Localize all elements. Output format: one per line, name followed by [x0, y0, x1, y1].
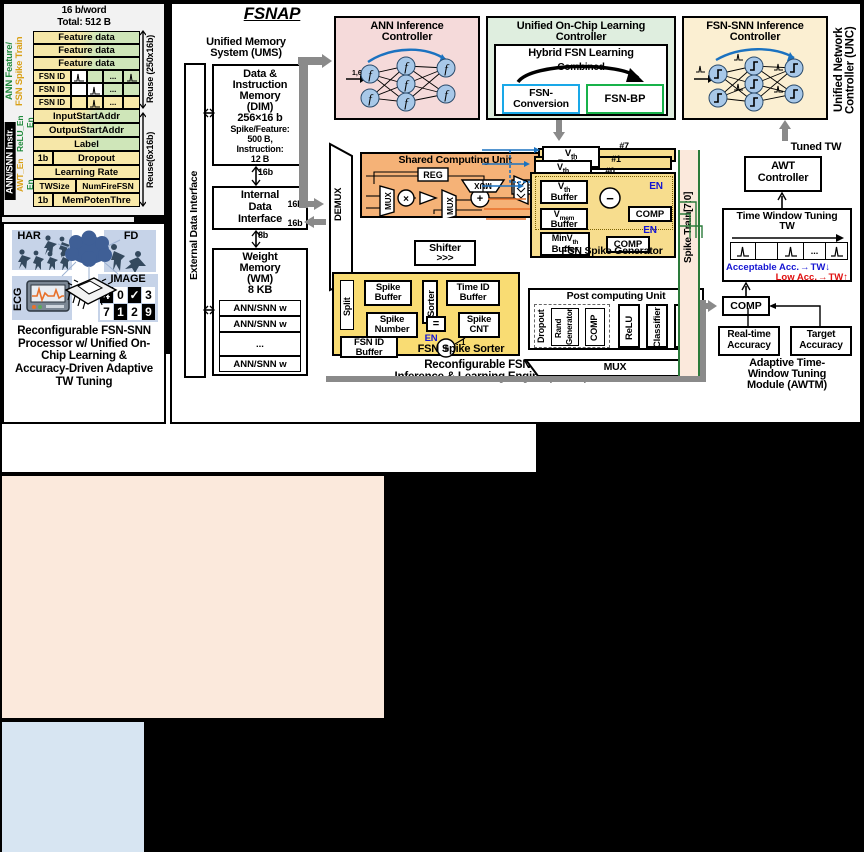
tuned-tw-label: Tuned TW [780, 142, 852, 153]
shifter-symbol: >>> [416, 254, 474, 264]
time-id-line2: Buffer [448, 293, 498, 303]
adaptive-time-window-tuning-module [0, 720, 146, 852]
spike-gen-title: FSN Spike Generator [550, 246, 674, 257]
applications-panel: HAR FD [2, 222, 166, 424]
gray-feedback-riser [700, 300, 706, 380]
spike-cell-1b [87, 83, 103, 96]
comparator-eq: = [426, 316, 446, 332]
fsn-id-buf-line2: Buffer [342, 348, 396, 358]
awt-ctrl-line2: Controller [746, 173, 820, 184]
spike-buffer: Spike Buffer [364, 280, 412, 306]
fsn-conversion-line2: Conversion [504, 99, 578, 110]
target-acc-line1: Target [792, 330, 850, 340]
dim-line8: Instruction: [214, 145, 306, 154]
memrow-fsn-id-0: FSN ID [33, 70, 71, 83]
awt-controller: AWT Controller [744, 156, 822, 192]
memrow-feature-2: Feature data [33, 57, 140, 70]
memrow-dropout: Dropout [53, 151, 140, 165]
pcu-comp: COMP [585, 308, 605, 346]
fsn-conversion-box: FSN- Conversion [502, 84, 580, 114]
pcu-title: Post computing Unit [530, 291, 702, 302]
applications-caption: Reconfigurable FSN-SNN Processor w/ Unif… [6, 326, 162, 389]
gray-arrow-to-unc-icon [298, 54, 334, 68]
spike-cell-1a [71, 83, 87, 96]
rand-gen-line2: Generator [566, 311, 574, 345]
shifter: Shifter >>> [414, 240, 476, 266]
gray-arrow-ums-to-rfile-icon [302, 198, 326, 210]
svg-text:×: × [403, 194, 409, 205]
sorter-split: Split [340, 280, 354, 330]
spike-cell-2a [71, 96, 87, 109]
caption-line-1: Processor w/ Unified On- [6, 339, 162, 351]
combined-label: Combined [496, 63, 666, 73]
label-awt-en: AWT_En [16, 156, 25, 194]
memrow-feature-0: Feature data [33, 31, 140, 44]
memrow-dropout-bits: 1b [33, 151, 53, 165]
comp-1: COMP [628, 206, 672, 222]
spike-buffer-line2: Buffer [366, 293, 410, 303]
tw-spike-cells: ... [730, 242, 848, 260]
target-accuracy: Target Accuracy [790, 326, 852, 356]
edi-label: External Data Interface [189, 105, 200, 345]
weight-memory: Weight Memory (WM) 8 KB ANN/SNN w ANN/SN… [212, 248, 308, 376]
reuse-brackets-icon [140, 30, 146, 208]
tw-ellipsis: ... [804, 242, 826, 260]
label-relu-en: ReLU_En [16, 116, 25, 152]
wm-row-3: ANN/SNN w [219, 356, 301, 372]
gray-arrow-awtm-up-icon [778, 120, 792, 142]
bus-16b-top-label: 16b [258, 168, 280, 177]
memrow-mempoten-bits: 1b [33, 193, 53, 207]
green-spike-lines [676, 196, 710, 246]
gray-feedback-bar [326, 376, 706, 382]
memrow-learning-rate: Learning Rate [33, 165, 140, 179]
accuracy-to-comp-lines [742, 296, 824, 330]
fsnap-title: FSNAP [212, 5, 332, 22]
rand-gen-line1: Rand [555, 311, 563, 345]
memory-map-panel: 16 b/word Total: 512 B ANN Feature/ FSN … [2, 2, 166, 217]
target-acc-line2: Accuracy [792, 341, 850, 351]
tw-label: TW [724, 222, 850, 232]
svg-text:MUX: MUX [384, 191, 393, 209]
dropout-label: Dropout [537, 307, 546, 345]
spike-cnt: Spike CNT [458, 312, 500, 338]
awt-ctrl-line1: AWT [746, 161, 820, 172]
spike-gen-en-2: EN [638, 226, 662, 236]
memrow-feature-1: Feature data [33, 44, 140, 57]
spike-cell-0b [87, 70, 103, 83]
spike-train-bus: Spike Train[7:0] [678, 150, 700, 378]
classifier-block: Classifier [646, 304, 668, 348]
spike-cell-0a [71, 70, 87, 83]
memrow-numfirefsn: NumFireFSN [76, 179, 140, 193]
stack-label-7: #7 [614, 142, 634, 151]
demux-label: DEMUX [334, 178, 344, 230]
svg-text:REG: REG [423, 170, 443, 180]
memrow-fsn-id-1: FSN ID [33, 83, 71, 96]
fsn-spike-sorter: Split Spike Buffer Sorter Time ID Buffer… [332, 272, 520, 356]
fsn-snn-inference-controller: FSN-SNN Inference Controller [682, 16, 828, 120]
spike-cell-0c: ... [103, 70, 123, 83]
rand-generator: Rand Generator [551, 308, 579, 346]
realtime-acc-line2: Accuracy [720, 341, 778, 351]
arrow-comp-to-twt-icon [740, 282, 752, 296]
spike-cell-2c: ... [103, 96, 123, 109]
ann-inference-controller: ANN Inference Controller ff fff ff [334, 16, 480, 120]
learn-ctrl-line2: Controller [488, 32, 674, 43]
caption-line-0: Reconfigurable FSN-SNN [6, 326, 162, 338]
spike-cnt-line2: CNT [460, 325, 498, 335]
unc-side-label-line1: Unified Network Controller (UNC) [834, 14, 848, 126]
snn-ctrl-line2: Controller [684, 32, 826, 43]
relu-block: ReLU [618, 304, 640, 348]
orange-feedback-lines [482, 195, 542, 225]
spike-number: Spike Number [366, 312, 418, 338]
data-instruction-memory: Data & Instruction Memory (DIM) 256×16 b… [212, 64, 308, 166]
stack-label-1: #1 [606, 155, 626, 164]
memrow-fsn-id-2: FSN ID [33, 96, 71, 109]
awtm-caption-line3: Module (AWTM) [716, 380, 858, 391]
time-id-buffer: Time ID Buffer [446, 280, 500, 306]
vmem-buffer-line2: Buffer [542, 220, 586, 230]
unified-onchip-learning-controller: Unified On-Chip Learning Controller Hybr… [486, 16, 676, 120]
ecg-label: ECG [13, 280, 24, 318]
hybrid-fsn-title: Hybrid FSN Learning [496, 48, 666, 59]
caption-line-2: Chip Learning & [6, 351, 162, 363]
realtime-accuracy: Real-time Accuracy [718, 326, 780, 356]
spike-sorter-title: FSN Spike Sorter [404, 344, 518, 355]
spike-cell-1c: ... [103, 83, 123, 96]
spike-cell-1d [123, 83, 140, 96]
pcu-comp-label: COMP [590, 311, 599, 345]
edi-dim-arrow-icon [203, 108, 215, 118]
fsn-id-buffer: FSN ID Buffer [340, 336, 398, 358]
memrow-output-start-addr: OutputStartAddr [33, 123, 140, 137]
realtime-acc-line1: Real-time [720, 330, 778, 340]
label-fsn-spike-train: FSN Spike Train [15, 28, 25, 114]
memrow-mempotenthre: MemPotenThre [53, 193, 140, 207]
dim-line7: 500 B, [214, 135, 306, 144]
memrow-label: Label [33, 137, 140, 151]
memrow-twsize: TWSize [33, 179, 76, 193]
spike-gen-en-1: EN [644, 182, 668, 192]
reuse-top-label: Reuse (250x16b) [146, 30, 155, 108]
low-acc-label: Low Acc. [776, 272, 817, 283]
dropout-group: Dropout Rand Generator COMP [534, 304, 610, 348]
hybrid-fsn-learning-box: Hybrid FSN Learning Combined FSN- Conver… [494, 44, 668, 116]
brain-chip-icon [56, 228, 122, 324]
low-acc-result: TW [828, 272, 843, 283]
svg-text:MUX: MUX [446, 196, 455, 214]
wm-row-1: ANN/SNN w [219, 316, 301, 332]
snn-network-icon [690, 44, 824, 118]
rfile-engine [0, 474, 386, 720]
ann-network-icon: ff fff ff 1,6 [342, 44, 476, 118]
caption-line-4: TW Tuning [6, 377, 162, 389]
edi-wm-arrow-icon [203, 305, 215, 315]
memrow-input-start-addr: InputStartAddr [33, 109, 140, 123]
wm-line4: 8 KB [214, 285, 306, 296]
tw-axis-arrow-icon [730, 232, 848, 242]
memmap-header-line1: 16 b/word [34, 6, 134, 16]
subtractor-icon: − [596, 184, 624, 212]
dim-line6: Spike/Feature: [214, 125, 306, 134]
relu-label: ReLU [625, 310, 635, 346]
mux-output-label: MUX [580, 362, 650, 373]
spike-cell-2d [123, 96, 140, 109]
wm-row-ellipsis: ... [219, 332, 301, 356]
svg-text:−: − [606, 191, 614, 206]
caption-line-3: Accuracy-Driven Adaptive [6, 364, 162, 376]
gray-bus-ums-to-unc [299, 60, 308, 208]
split-label: Split [343, 291, 352, 323]
spike-number-line2: Number [368, 325, 416, 335]
classifier-label: Classifier [653, 307, 663, 349]
har-label: HAR [14, 231, 44, 242]
fsn-spike-generator: Vth Buffer Vmem Buffer − COMP EN MinVth … [530, 172, 676, 258]
reuse-bottom-label: Reuse(6x16b) [146, 114, 155, 206]
dim-line5: 256×16 b [214, 113, 306, 124]
ums-title-line2: System (UMS) [180, 48, 312, 59]
memmap-header-line2: Total: 512 B [34, 18, 134, 28]
gray-arrow-rfile-to-ums-icon [302, 216, 326, 228]
bus-8b-label: 8b [258, 231, 278, 240]
spike-cell-2b [87, 96, 103, 109]
figure-root: 16 b/word Total: 512 B ANN Feature/ FSN … [0, 0, 864, 426]
wm-row-0: ANN/SNN w [219, 300, 301, 316]
ann-ctrl-line2: Controller [336, 32, 478, 43]
gray-arrow-unc-down-icon [552, 120, 566, 142]
svg-text:1,6: 1,6 [352, 70, 362, 77]
spike-cell-0d [123, 70, 140, 83]
dim-line9: 12 B [214, 155, 306, 164]
time-window-tuning: Time Window Tuning TW ... Acceptable Acc… [722, 208, 852, 282]
low-acc-arrow: ↑ [843, 272, 848, 283]
fsn-bp-box: FSN-BP [586, 84, 664, 114]
